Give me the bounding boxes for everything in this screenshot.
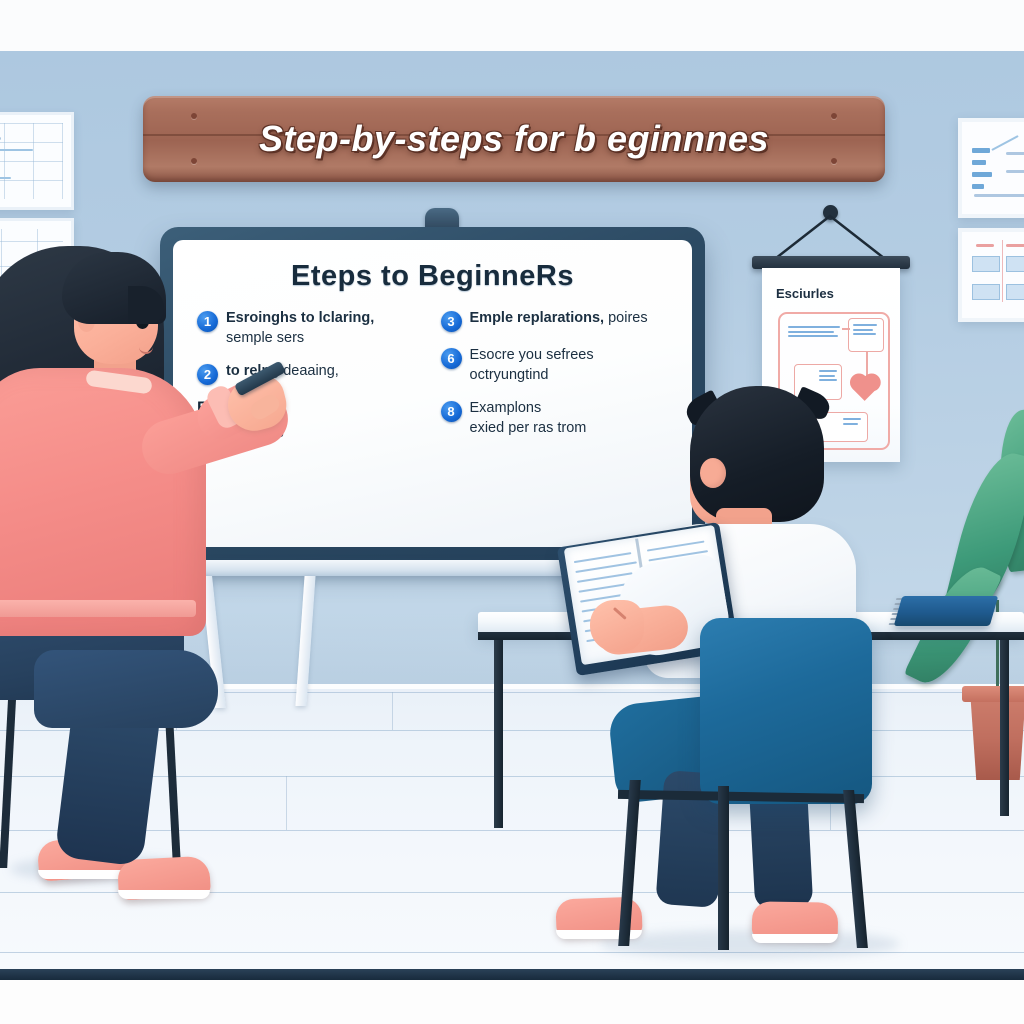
step-number-badge: 8: [441, 401, 462, 422]
teacher-sweater: [0, 368, 206, 636]
classroom-illustration: Step-by-steps for b eginnnes Esciurles: [0, 0, 1024, 1024]
student-chair-back[interactable]: [700, 618, 872, 804]
step-number-badge: 3: [441, 311, 462, 332]
list-item-lead: Emple replarations,: [470, 310, 605, 326]
student-hand: [590, 600, 644, 652]
list-item: 2 to relng deaaing,: [197, 362, 425, 385]
student-ear: [700, 458, 726, 488]
desk-leg: [494, 640, 503, 828]
wall-poster-right-top: [958, 118, 1024, 218]
list-item: 1 Esroinghs to lclaring, semple sers: [197, 309, 425, 348]
list-item: 3 Emple replarations, poires: [441, 309, 669, 332]
subsection-heading: Examplons: [470, 399, 587, 419]
list-item-text: Esroinghs to lclaring, semple sers: [226, 309, 425, 348]
list-item-text: Examplons exied per ras trom: [470, 399, 587, 438]
chair-leg: [718, 786, 729, 950]
list-item-rest: semple sers: [226, 330, 304, 346]
teacher-thigh: [34, 650, 218, 728]
student-hair: [690, 386, 824, 522]
list-item: 8 Examplons exied per ras trom: [441, 399, 669, 438]
plant-pot-rim: [962, 686, 1024, 702]
list-item-rest: poires: [608, 310, 648, 326]
list-item-lead: Esocre you sefrees: [470, 347, 594, 363]
step-number-badge: 2: [197, 364, 218, 385]
wall-poster-left-top: [0, 112, 74, 210]
banner-title: Step-by-steps for b eginnnes: [143, 96, 885, 182]
step-number-badge: 1: [197, 311, 218, 332]
student-shoe-sole: [752, 934, 838, 943]
bottom-border-band: [0, 980, 1024, 1024]
teacher-shoe-sole: [118, 890, 210, 899]
whiteboard-heading: Eteps to BeginneRs: [191, 260, 674, 293]
examples-poster-title: Esciurles: [776, 286, 834, 301]
list-item: 6 Esocre you sefrees octryungtind: [441, 346, 669, 385]
heart-icon: [853, 376, 878, 401]
list-item-text: Esocre you sefrees octryungtind: [470, 346, 669, 385]
wooden-banner-sign: Step-by-steps for b eginnnes: [143, 96, 885, 182]
desk-leg: [1000, 640, 1009, 816]
top-border-band: [0, 0, 1024, 51]
list-item-rest: deaaing,: [283, 363, 339, 379]
wall-poster-right-bottom: [958, 228, 1024, 322]
spiral-notebook-icon: [894, 596, 999, 626]
whiteboard-right-column: 3 Emple replarations, poires 6 Esocre yo…: [441, 309, 669, 438]
subsection-body: exied per ras trom: [470, 419, 587, 439]
teacher-sweater-hem: [0, 600, 196, 617]
teacher-shoe-sole: [38, 870, 130, 879]
list-item-text: Emple replarations, poires: [470, 309, 648, 329]
list-item-rest: octryungtind: [470, 367, 549, 383]
step-number-badge: 6: [441, 348, 462, 369]
list-item-lead: Esroinghs to lclaring,: [226, 310, 374, 326]
